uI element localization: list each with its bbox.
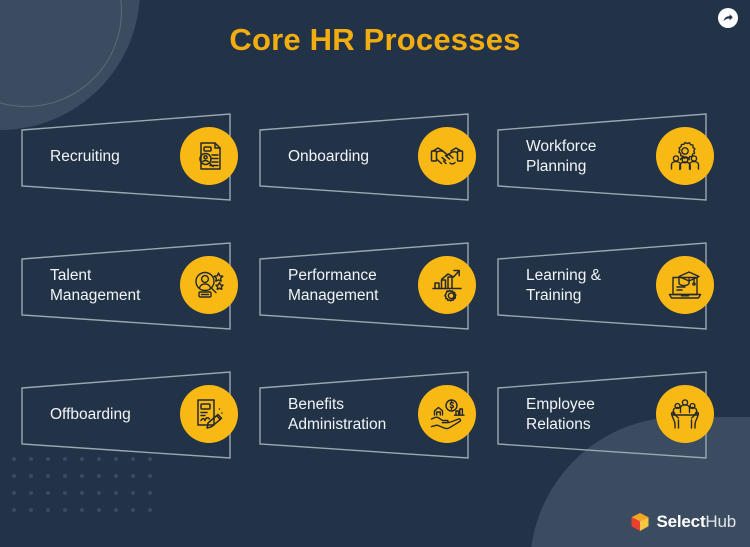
logo-name-light: Hub [705,512,736,531]
document-pen-signature-icon [180,385,238,443]
selecthub-wordmark: SelectHub [657,512,736,532]
card-label: Employee Relations [526,370,654,460]
top-left-blob-secondary [0,0,140,130]
card-label: Learning & Training [526,241,654,331]
process-card-employee-relations[interactable]: Employee Relations [496,370,734,460]
gear-people-icon [656,127,714,185]
resume-magnifier-icon [180,127,238,185]
pattern-dot [12,491,16,495]
pattern-dot [29,508,33,512]
process-card-learning-training[interactable]: Learning & Training [496,241,734,331]
process-card-workforce-planning[interactable]: Workforce Planning [496,112,734,202]
process-card-onboarding[interactable]: Onboarding [258,112,496,202]
process-card-performance-management[interactable]: Performance Management [258,241,496,331]
card-label: Onboarding [288,112,416,202]
process-card-grid: Recruiting Onbo [20,112,734,499]
hand-benefits-icon [418,385,476,443]
pattern-dot [12,508,16,512]
pattern-dot [97,508,101,512]
pattern-dot [148,508,152,512]
pattern-dot [131,508,135,512]
selecthub-logo: SelectHub [629,511,736,533]
pattern-dot [63,508,67,512]
process-card-offboarding[interactable]: Offboarding [20,370,258,460]
infographic-canvas: Core HR Processes Recruiting [0,0,750,547]
card-label: Benefits Administration [288,370,416,460]
pattern-dot [12,457,16,461]
process-card-talent-management[interactable]: Talent Management [20,241,258,331]
logo-name-bold: Select [657,512,706,531]
hands-people-icon [656,385,714,443]
card-label: Offboarding [50,370,178,460]
card-label: Performance Management [288,241,416,331]
pattern-dot [114,508,118,512]
card-label: Talent Management [50,241,178,331]
card-label: Recruiting [50,112,178,202]
laptop-graduation-cap-icon [656,256,714,314]
pattern-dot [80,508,84,512]
process-card-benefits-administration[interactable]: Benefits Administration [258,370,496,460]
page-title: Core HR Processes [0,22,750,58]
handshake-icon [418,127,476,185]
person-magnifier-stars-icon [180,256,238,314]
selecthub-cube-icon [629,511,651,533]
pattern-dot [46,508,50,512]
pattern-dot [12,474,16,478]
card-label: Workforce Planning [526,112,654,202]
process-card-recruiting[interactable]: Recruiting [20,112,258,202]
bar-chart-arrow-gear-icon [418,256,476,314]
